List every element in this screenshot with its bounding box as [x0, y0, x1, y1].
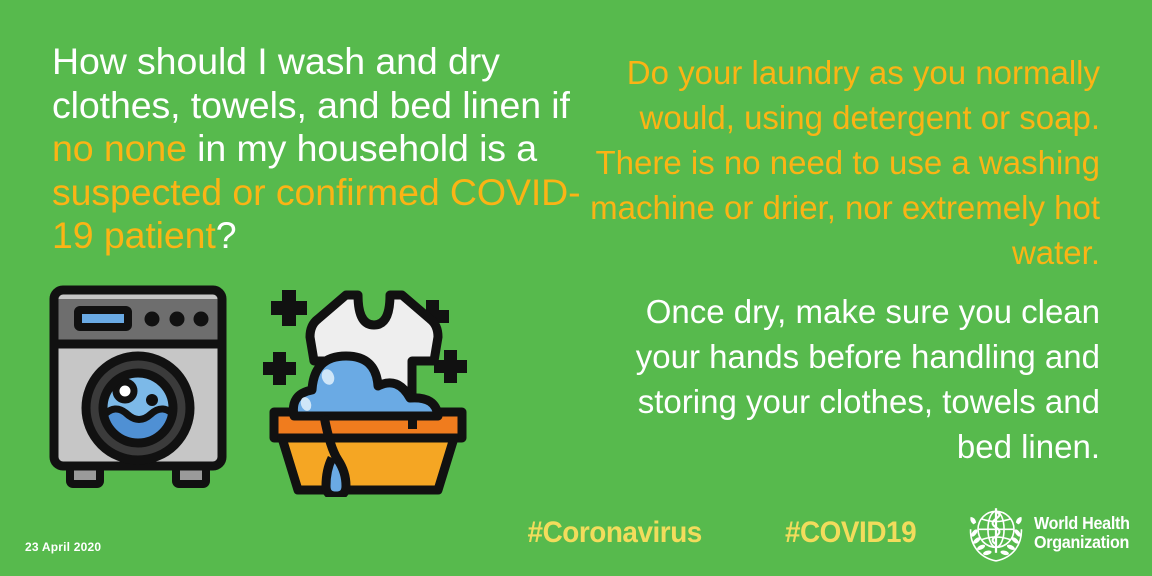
answer-column: Do your laundry as you normally would, u… — [580, 50, 1100, 469]
date-stamp: 23 April 2020 — [25, 540, 101, 554]
hashtag-coronavirus[interactable]: #Coronavirus — [527, 516, 701, 550]
question-column: How should I wash and dry clothes, towel… — [52, 40, 582, 258]
headline-part-3: ? — [216, 214, 237, 256]
answer-primary-text: Do your laundry as you normally would, u… — [580, 50, 1100, 275]
who-wordmark: World Health Organization — [1034, 514, 1130, 552]
who-wordmark-line-2: Organization — [1034, 533, 1130, 552]
headline-highlight-2: suspected or confirmed COVID-19 patient — [52, 171, 581, 257]
footer-bar: #Coronavirus #COVID19 — [480, 490, 1152, 576]
headline-highlight-1: no none — [52, 127, 187, 169]
hashtag-covid19[interactable]: #COVID19 — [785, 516, 916, 550]
who-wordmark-line-1: World Health — [1034, 514, 1130, 533]
page-title: How should I wash and dry clothes, towel… — [52, 40, 582, 258]
who-emblem-icon — [965, 502, 1027, 564]
poster-canvas: How should I wash and dry clothes, towel… — [0, 0, 1152, 576]
illustration-group — [40, 282, 500, 502]
who-logo: World Health Organization — [965, 502, 1138, 564]
headline-part-1: How should I wash and dry clothes, towel… — [52, 40, 570, 126]
laundry-basket-icon — [258, 282, 478, 497]
answer-secondary-text: Once dry, make sure you clean your hands… — [580, 289, 1100, 469]
washing-machine-icon — [48, 282, 228, 497]
headline-part-2: in my household is a — [187, 127, 537, 169]
